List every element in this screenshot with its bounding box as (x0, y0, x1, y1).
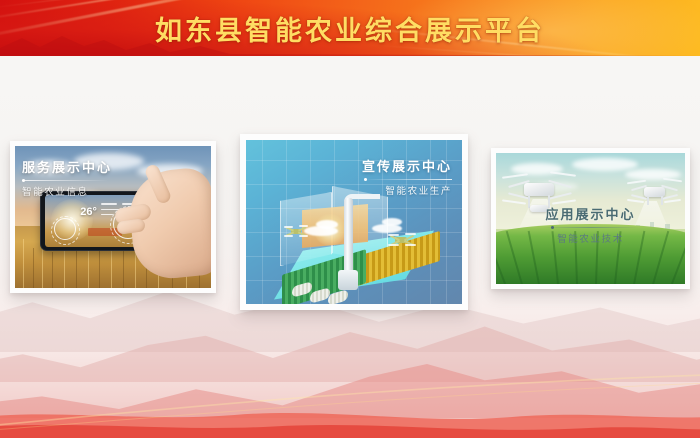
card-service-center[interactable]: 26° 服务展示中心 智能农业信息 (10, 141, 216, 293)
card-promotion-center[interactable]: 宣传展示中心 智能农业生产 (240, 134, 468, 310)
temperature-readout: 26° (80, 206, 97, 218)
header-banner: 如东县智能农业综合展示平台 (0, 0, 700, 56)
card-title: 宣传展示中心 (362, 156, 452, 175)
light-streak-background (0, 372, 700, 432)
card-subtitle: 智能农业技术 (491, 231, 690, 245)
card-title: 服务展示中心 (22, 157, 112, 176)
card-title-rule (364, 179, 452, 180)
card-title-rule (543, 227, 639, 228)
card-title-rule (22, 180, 108, 181)
card-application-center[interactable]: 应用展示中心 智能农业技术 (491, 148, 690, 289)
card-subtitle: 智能农业生产 (362, 183, 452, 197)
hud-gauge-ring (51, 216, 80, 245)
cloud-shape (316, 220, 338, 229)
card-subtitle: 智能农业信息 (22, 184, 112, 198)
cloud-shape (382, 218, 402, 226)
hud-bar (101, 203, 117, 205)
card-promotion-caption: 宣传展示中心 智能农业生产 (362, 156, 452, 197)
card-title: 应用展示中心 (491, 204, 690, 223)
irrigation-pipe (344, 198, 353, 274)
hud-bar (101, 214, 113, 216)
water-tank (338, 270, 358, 290)
drone-icon (284, 224, 308, 236)
card-application-caption: 应用展示中心 智能农业技术 (491, 204, 690, 245)
page-title: 如东县智能农业综合展示平台 (0, 0, 700, 56)
drone-icon (388, 232, 416, 246)
card-service-caption: 服务展示中心 智能农业信息 (22, 157, 112, 198)
